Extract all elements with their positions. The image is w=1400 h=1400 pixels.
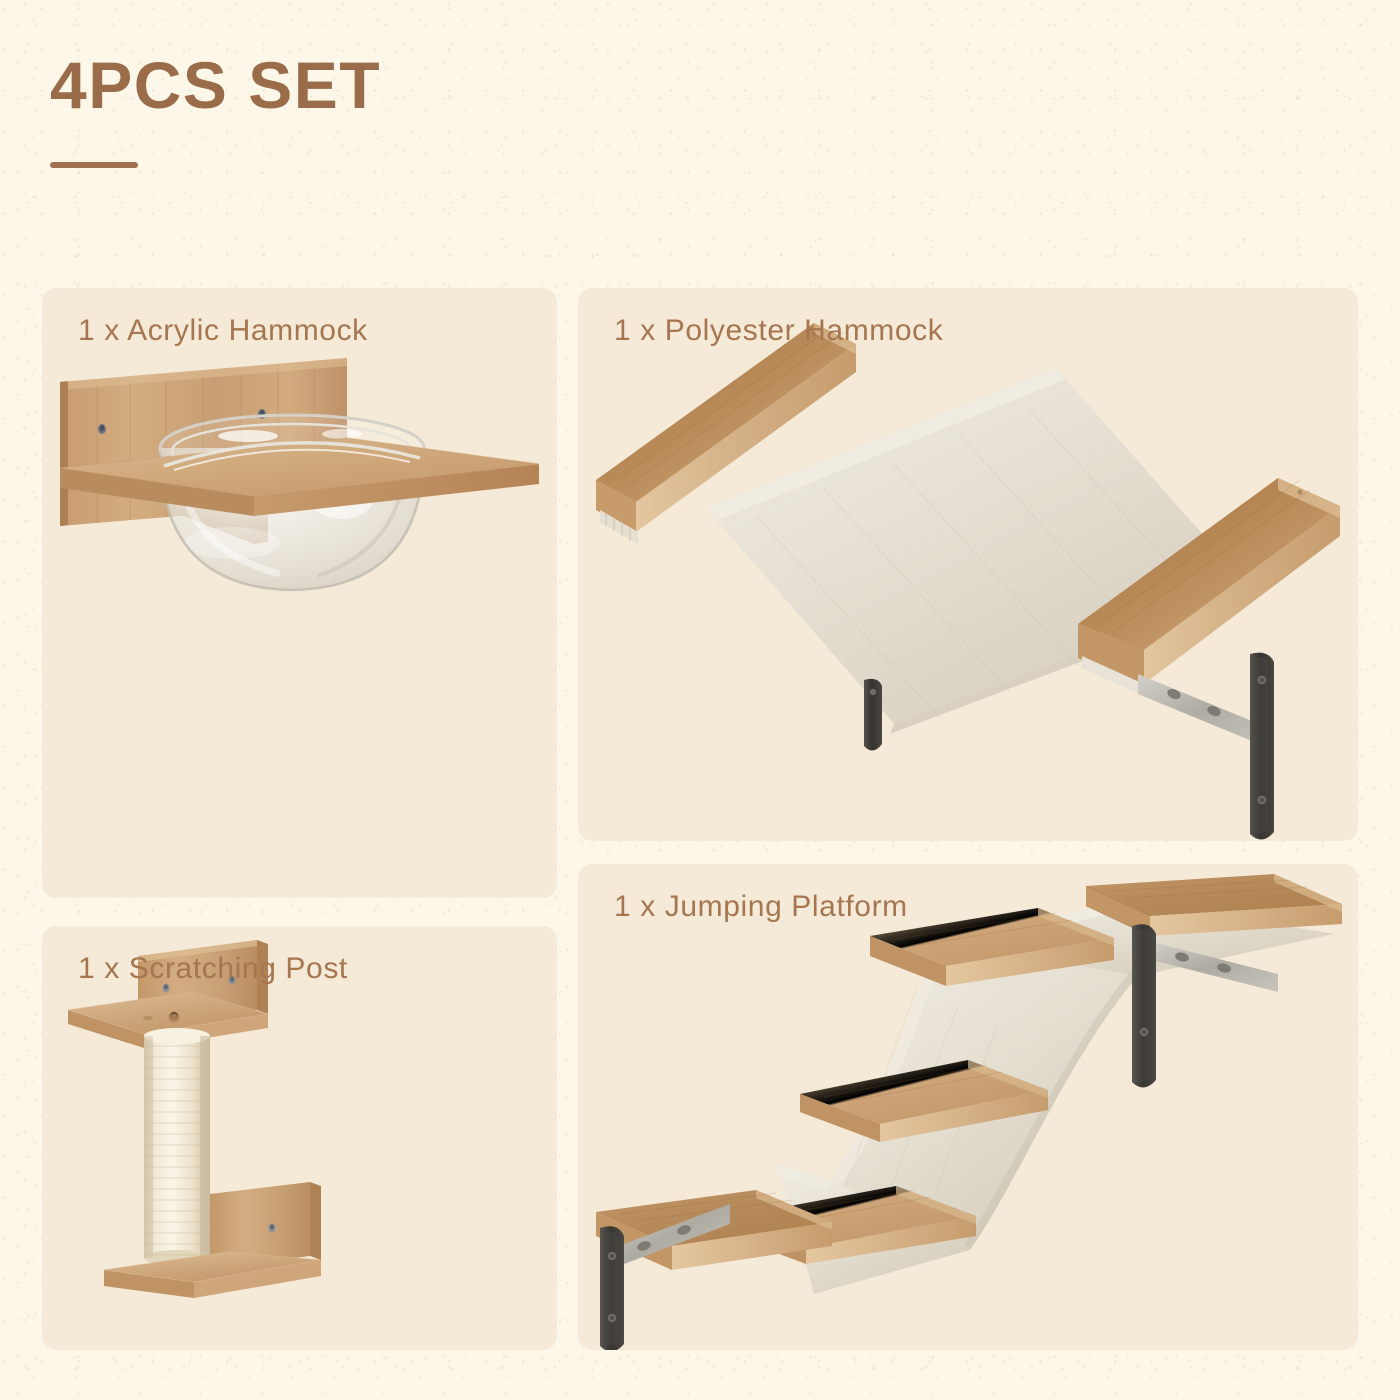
card-polyester-hammock: 1 x Polyester Hammock xyxy=(578,288,1358,841)
card-label-jumping-platform: 1 x Jumping Platform xyxy=(614,890,908,924)
header: 4PCS SET xyxy=(50,52,381,168)
mounting-screw xyxy=(268,1224,275,1233)
page-title: 4PCS SET xyxy=(50,52,381,118)
card-jumping-platform: 1 x Jumping Platform xyxy=(578,864,1358,1350)
product-illustration-jumping-platform xyxy=(578,864,1358,1350)
card-label-scratching-post: 1 x Scratching Post xyxy=(78,952,348,986)
wall-bracket-metal xyxy=(1138,653,1274,840)
title-underline-rule xyxy=(50,162,138,168)
center-support-peg xyxy=(864,679,882,751)
bottom-shelf-unit xyxy=(104,1182,321,1298)
product-illustration-acrylic-hammock xyxy=(42,288,557,898)
product-illustration-scratching-post xyxy=(42,926,557,1350)
sisal-post xyxy=(144,1028,210,1266)
hammock-fabric xyxy=(706,368,1250,734)
card-label-polyester-hammock: 1 x Polyester Hammock xyxy=(614,314,943,348)
product-illustration-polyester-hammock xyxy=(578,288,1358,841)
card-scratching-post: 1 x Scratching Post xyxy=(42,926,557,1350)
card-acrylic-hammock: 1 x Acrylic Hammock xyxy=(42,288,557,898)
card-label-acrylic-hammock: 1 x Acrylic Hammock xyxy=(78,314,368,348)
mounting-screw xyxy=(98,424,106,434)
